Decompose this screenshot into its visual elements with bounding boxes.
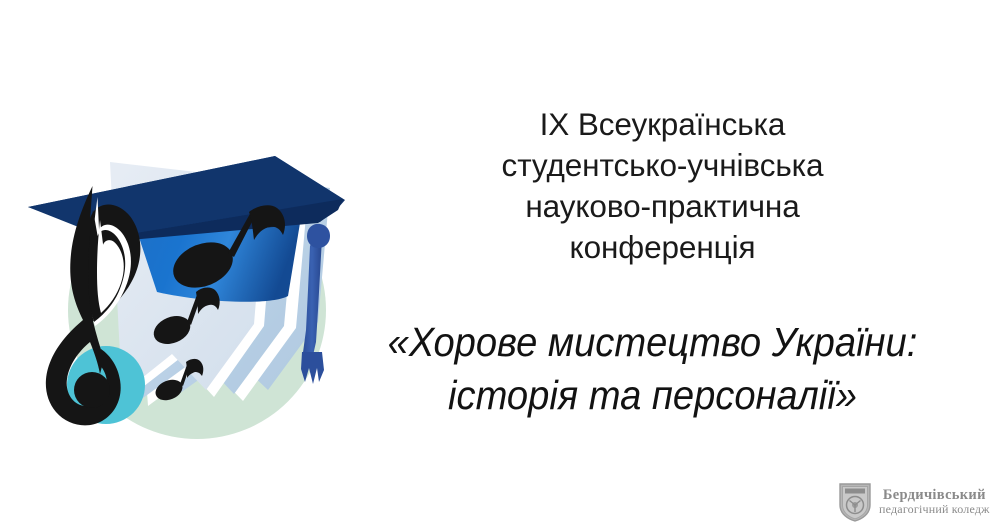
conference-banner: IX Всеукраїнська студентсько-учнівська н… (0, 0, 1001, 530)
title-line-2: студентсько-учнівська (400, 145, 925, 186)
conference-title: IX Всеукраїнська студентсько-учнівська н… (400, 104, 925, 268)
title-line-1: IX Всеукраїнська (400, 104, 925, 145)
conference-subtitle: «Хорове мистецтво України: історія та пе… (340, 316, 965, 422)
subtitle-line-2: історія та персоналії» (362, 369, 943, 422)
title-line-4: конференція (400, 227, 925, 268)
college-name-sub: педагогічний коледж (879, 503, 990, 516)
college-logo: Бердичівський педагогічний коледж (838, 481, 990, 523)
title-line-3: науково-практична (400, 186, 925, 227)
shield-crest-icon (838, 481, 872, 523)
subtitle-line-1: «Хорове мистецтво України: (362, 316, 943, 369)
college-name-main: Бердичівський (883, 487, 986, 503)
college-name: Бердичівський педагогічний коледж (879, 487, 990, 517)
